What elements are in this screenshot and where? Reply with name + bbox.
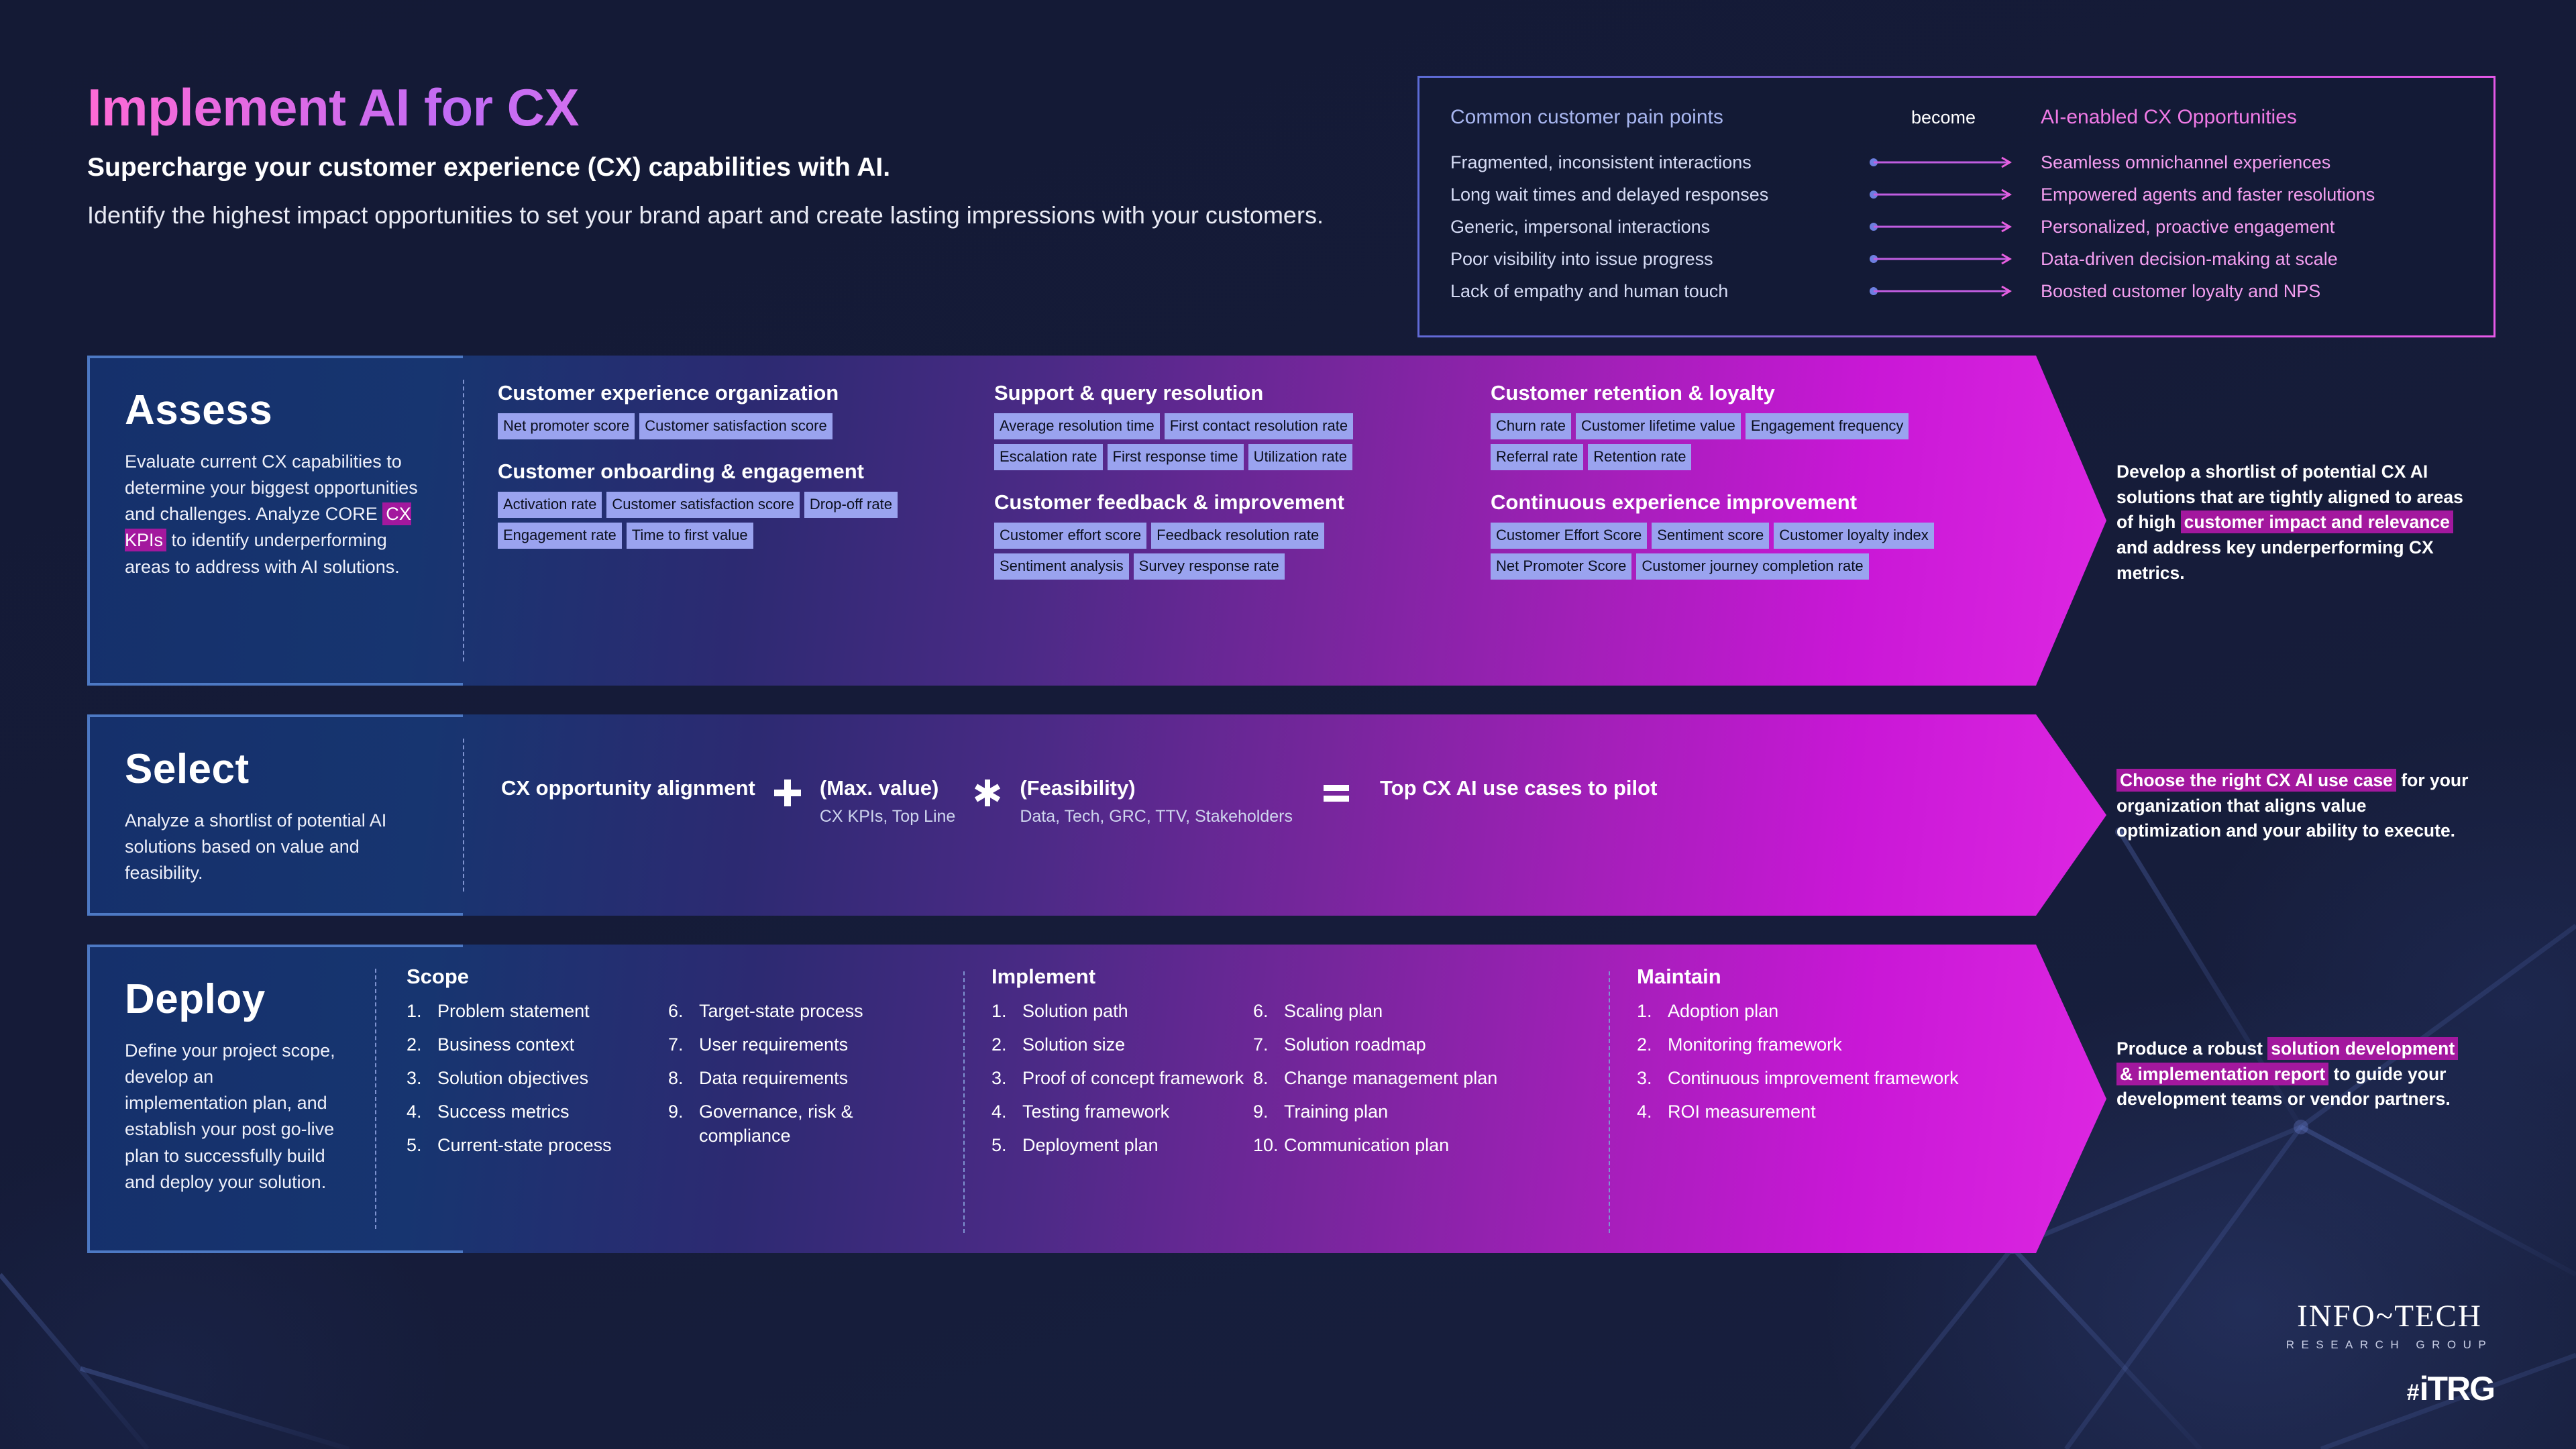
- opportunities-column-header: AI-enabled CX Opportunities: [2041, 106, 2463, 129]
- list-item-text: Proof of concept framework: [1022, 1067, 1244, 1091]
- list-item-text: Change management plan: [1284, 1067, 1497, 1091]
- list-item-number: 8.: [668, 1067, 699, 1091]
- kpi-chip[interactable]: Customer satisfaction score: [606, 492, 799, 518]
- list-item-number: 10.: [1253, 1134, 1284, 1158]
- become-arrow-icon: [1846, 219, 2041, 234]
- list-item-text: Success metrics: [437, 1100, 570, 1124]
- kpi-group: Customer feedback & improvementCustomer …: [994, 490, 1491, 580]
- kpi-chip[interactable]: Survey response rate: [1134, 553, 1285, 580]
- assess-description: Evaluate current CX capabilities to dete…: [125, 449, 425, 580]
- pain-point-row: Fragmented, inconsistent interactionsSea…: [1450, 146, 2463, 178]
- formula-term2-main: (Max. value): [820, 776, 955, 800]
- select-label-block: Select Analyze a shortlist of potential …: [87, 714, 463, 916]
- list-item-number: 3.: [991, 1067, 1022, 1091]
- deploy-list: 1.Problem statement2.Business context3.S…: [407, 1000, 668, 1167]
- deploy-column: Implement1.Solution path2.Solution size3…: [991, 965, 1582, 1253]
- kpi-chip[interactable]: Net Promoter Score: [1491, 553, 1631, 580]
- select-description: Analyze a shortlist of potential AI solu…: [125, 808, 425, 886]
- asterisk-icon: [955, 776, 1020, 808]
- deploy-columns: Scope1.Problem statement2.Business conte…: [376, 945, 2106, 1253]
- pain-points-panel: Common customer pain points become AI-en…: [1417, 76, 2495, 337]
- deploy-list: 6.Scaling plan7.Solution roadmap8.Change…: [1253, 1000, 1562, 1167]
- list-item-text: Problem statement: [437, 1000, 590, 1024]
- assess-label-block: Assess Evaluate current CX capabilities …: [87, 356, 463, 686]
- list-item-number: 2.: [1637, 1033, 1668, 1057]
- kpi-chip[interactable]: Escalation rate: [994, 444, 1103, 470]
- pain-point-text: Lack of empathy and human touch: [1450, 281, 1846, 302]
- list-item-number: 1.: [1637, 1000, 1668, 1024]
- opportunity-text: Personalized, proactive engagement: [2041, 217, 2463, 237]
- list-item: 1.Solution path: [991, 1000, 1253, 1024]
- plus-icon: [755, 776, 820, 808]
- list-item-number: 8.: [1253, 1067, 1284, 1091]
- kpi-group-title: Customer retention & loyalty: [1491, 381, 1987, 405]
- kpi-group-title: Support & query resolution: [994, 381, 1491, 405]
- pain-point-row: Generic, impersonal interactionsPersonal…: [1450, 211, 2463, 243]
- info-tech-logo: INFO~TECH RESEARCH GROUP: [2249, 1298, 2530, 1352]
- deploy-heading: Deploy: [125, 975, 337, 1023]
- list-item-number: 6.: [1253, 1000, 1284, 1024]
- list-item-text: Governance, risk & compliance: [699, 1100, 916, 1148]
- formula-term2-sub: CX KPIs, Top Line: [820, 807, 955, 826]
- formula-term4-main: Top CX AI use cases to pilot: [1380, 776, 1657, 800]
- list-item-text: Solution objectives: [437, 1067, 588, 1091]
- kpi-chip[interactable]: Engagement rate: [498, 523, 622, 549]
- kpi-chip[interactable]: Activation rate: [498, 492, 602, 518]
- list-item-text: Adoption plan: [1668, 1000, 1778, 1024]
- select-formula: CX opportunity alignment (Max. value) CX…: [464, 714, 2106, 826]
- list-item-text: Scaling plan: [1284, 1000, 1383, 1024]
- assess-callout: Develop a shortlist of potential CX AI s…: [2116, 460, 2472, 586]
- become-arrow-icon: [1846, 187, 2041, 202]
- kpi-group: Customer experience organizationNet prom…: [498, 381, 994, 439]
- assess-desc-after: to identify underperforming areas to add…: [125, 530, 400, 576]
- deploy-description: Define your project scope, develop an im…: [125, 1038, 337, 1195]
- kpi-group: Support & query resolutionAverage resolu…: [994, 381, 1491, 470]
- deploy-column: Scope1.Problem statement2.Business conte…: [407, 965, 936, 1253]
- list-item-number: 2.: [991, 1033, 1022, 1057]
- formula-term-result: Top CX AI use cases to pilot: [1380, 776, 1657, 800]
- info-tech-tagline: RESEARCH GROUP: [2249, 1338, 2530, 1352]
- list-item-number: 3.: [407, 1067, 437, 1091]
- kpi-chip[interactable]: Time to first value: [627, 523, 753, 549]
- page-header: Implement AI for CX Supercharge your cus…: [87, 80, 1429, 231]
- deploy-callout: Produce a robust solution development & …: [2116, 1036, 2472, 1112]
- kpi-chip-list: Activation rateCustomer satisfaction sco…: [498, 492, 961, 549]
- list-item: 9.Governance, risk & compliance: [668, 1100, 916, 1148]
- hash-icon: #: [2407, 1384, 2420, 1402]
- assess-callout-part2: and address key underperforming CX metri…: [2116, 537, 2434, 583]
- pain-points-column-header: Common customer pain points: [1450, 106, 1846, 129]
- select-callout-highlight: Choose the right CX AI use case: [2116, 769, 2396, 792]
- formula-term1-main: CX opportunity alignment: [501, 776, 755, 800]
- list-item-number: 4.: [407, 1100, 437, 1124]
- assess-kpi-columns: Customer experience organizationNet prom…: [464, 356, 2106, 600]
- itrg-logo: # iTRG: [2407, 1375, 2494, 1402]
- assess-callout-highlight: customer impact and relevance: [2181, 511, 2453, 533]
- deploy-list: 6.Target-state process7.User requirement…: [668, 1000, 916, 1167]
- select-band: Select Analyze a shortlist of potential …: [87, 714, 2106, 916]
- page-subtitle: Supercharge your customer experience (CX…: [87, 153, 1429, 182]
- opportunity-text: Empowered agents and faster resolutions: [2041, 184, 2463, 205]
- deploy-callout-part1: Produce a robust: [2116, 1038, 2267, 1059]
- formula-term-alignment: CX opportunity alignment: [501, 776, 755, 800]
- kpi-chip[interactable]: Feedback resolution rate: [1151, 523, 1324, 549]
- list-item: 10.Communication plan: [1253, 1134, 1562, 1158]
- kpi-group-title: Customer experience organization: [498, 381, 994, 405]
- list-item-number: 6.: [668, 1000, 699, 1024]
- list-item-text: Testing framework: [1022, 1100, 1169, 1124]
- list-item: 4.Testing framework: [991, 1100, 1253, 1124]
- deploy-list: 1.Solution path2.Solution size3.Proof of…: [991, 1000, 1253, 1167]
- kpi-chip[interactable]: Sentiment analysis: [994, 553, 1129, 580]
- list-item: 1.Problem statement: [407, 1000, 668, 1024]
- kpi-chip[interactable]: First contact resolution rate: [1165, 413, 1353, 439]
- kpi-group-title: Customer onboarding & engagement: [498, 460, 994, 484]
- kpi-group: Customer onboarding & engagementActivati…: [498, 460, 994, 549]
- itrg-wordmark: iTRG: [2420, 1375, 2494, 1402]
- list-item-number: 9.: [668, 1100, 699, 1148]
- list-item: 7.Solution roadmap: [1253, 1033, 1562, 1057]
- list-item: 4.Success metrics: [407, 1100, 668, 1124]
- list-item-number: 7.: [1253, 1033, 1284, 1057]
- list-item-number: 2.: [407, 1033, 437, 1057]
- list-item-text: Solution size: [1022, 1033, 1125, 1057]
- kpi-chip-list: Customer Effort ScoreSentiment scoreCust…: [1491, 523, 1953, 580]
- kpi-column: Customer retention & loyaltyChurn rateCu…: [1491, 381, 1987, 600]
- list-item-text: Solution path: [1022, 1000, 1128, 1024]
- kpi-chip[interactable]: Utilization rate: [1248, 444, 1352, 470]
- equals-icon: [1293, 776, 1380, 808]
- kpi-chip[interactable]: Engagement frequency: [1746, 413, 1909, 439]
- kpi-chip[interactable]: Customer loyalty index: [1774, 523, 1934, 549]
- list-item-number: 4.: [1637, 1100, 1668, 1124]
- kpi-chip[interactable]: Churn rate: [1491, 413, 1571, 439]
- deploy-column-title: Implement: [991, 965, 1582, 989]
- opportunity-text: Data-driven decision-making at scale: [2041, 249, 2463, 270]
- deploy-column-divider: [963, 971, 965, 1233]
- kpi-chip[interactable]: Customer journey completion rate: [1636, 553, 1868, 580]
- kpi-chip[interactable]: Referral rate: [1491, 444, 1583, 470]
- list-item-number: 7.: [668, 1033, 699, 1057]
- become-arrow-icon: [1846, 155, 2041, 170]
- pain-point-row: Poor visibility into issue progressData-…: [1450, 243, 2463, 275]
- list-item-text: Deployment plan: [1022, 1134, 1159, 1158]
- list-item-number: 9.: [1253, 1100, 1284, 1124]
- opportunity-text: Seamless omnichannel experiences: [2041, 152, 2463, 173]
- page-lede: Identify the highest impact opportunitie…: [87, 200, 1429, 231]
- list-item: 2.Business context: [407, 1033, 668, 1057]
- formula-term-value: (Max. value) CX KPIs, Top Line: [820, 776, 955, 826]
- kpi-chip-list: Net promoter scoreCustomer satisfaction …: [498, 413, 961, 439]
- list-item: 7.User requirements: [668, 1033, 916, 1057]
- list-item: 1.Adoption plan: [1637, 1000, 2106, 1024]
- kpi-chip[interactable]: Drop-off rate: [804, 492, 898, 518]
- pain-point-text: Long wait times and delayed responses: [1450, 184, 1846, 205]
- list-item: 8.Change management plan: [1253, 1067, 1562, 1091]
- pain-point-text: Poor visibility into issue progress: [1450, 249, 1846, 270]
- deploy-column-divider: [1609, 971, 1610, 1233]
- kpi-group-title: Continuous experience improvement: [1491, 490, 1987, 515]
- kpi-chip[interactable]: Customer Effort Score: [1491, 523, 1647, 549]
- select-callout: Choose the right CX AI use case for your…: [2116, 768, 2472, 844]
- list-item-text: Communication plan: [1284, 1134, 1449, 1158]
- list-item-text: Training plan: [1284, 1100, 1388, 1124]
- kpi-chip[interactable]: First response time: [1108, 444, 1244, 470]
- kpi-column: Support & query resolutionAverage resolu…: [994, 381, 1491, 600]
- kpi-group: Continuous experience improvementCustome…: [1491, 490, 1987, 580]
- opportunity-text: Boosted customer loyalty and NPS: [2041, 281, 2463, 302]
- become-arrow-icon: [1846, 284, 2041, 299]
- list-item: 3.Solution objectives: [407, 1067, 668, 1091]
- list-item: 4.ROI measurement: [1637, 1100, 2106, 1124]
- list-item-text: Continuous improvement framework: [1668, 1067, 1959, 1091]
- deploy-band: Deploy Define your project scope, develo…: [87, 945, 2106, 1253]
- list-item-text: Target-state process: [699, 1000, 863, 1024]
- deploy-column: Maintain1.Adoption plan2.Monitoring fram…: [1637, 965, 2106, 1253]
- list-item: 5.Current-state process: [407, 1134, 668, 1158]
- list-item: 9.Training plan: [1253, 1100, 1562, 1124]
- pain-points-rows: Fragmented, inconsistent interactionsSea…: [1419, 129, 2493, 307]
- kpi-column: Customer experience organizationNet prom…: [498, 381, 994, 600]
- select-heading: Select: [125, 745, 425, 793]
- list-item-text: User requirements: [699, 1033, 848, 1057]
- become-column-header: become: [1846, 107, 2041, 128]
- pain-point-text: Fragmented, inconsistent interactions: [1450, 152, 1846, 173]
- kpi-chip-list: Churn rateCustomer lifetime valueEngagem…: [1491, 413, 1953, 470]
- list-item-text: Data requirements: [699, 1067, 848, 1091]
- kpi-chip[interactable]: Customer effort score: [994, 523, 1146, 549]
- formula-term3-main: (Feasibility): [1020, 776, 1293, 800]
- pain-point-row: Long wait times and delayed responsesEmp…: [1450, 178, 2463, 211]
- infographic-root: Implement AI for CX Supercharge your cus…: [0, 0, 2576, 1449]
- kpi-chip[interactable]: Customer lifetime value: [1576, 413, 1741, 439]
- pain-points-header-row: Common customer pain points become AI-en…: [1419, 78, 2493, 129]
- list-item-text: ROI measurement: [1668, 1100, 1816, 1124]
- list-item-number: 5.: [407, 1134, 437, 1158]
- kpi-group: Customer retention & loyaltyChurn rateCu…: [1491, 381, 1987, 470]
- kpi-group-title: Customer feedback & improvement: [994, 490, 1491, 515]
- assess-band: Assess Evaluate current CX capabilities …: [87, 356, 2106, 686]
- list-item-number: 3.: [1637, 1067, 1668, 1091]
- list-item: 5.Deployment plan: [991, 1134, 1253, 1158]
- deploy-column-title: Scope: [407, 965, 936, 989]
- deploy-list: 1.Adoption plan2.Monitoring framework3.C…: [1637, 1000, 2106, 1134]
- pain-point-text: Generic, impersonal interactions: [1450, 217, 1846, 237]
- list-item: 8.Data requirements: [668, 1067, 916, 1091]
- kpi-chip[interactable]: Retention rate: [1588, 444, 1691, 470]
- formula-term3-sub: Data, Tech, GRC, TTV, Stakeholders: [1020, 807, 1293, 826]
- kpi-chip[interactable]: Sentiment score: [1652, 523, 1769, 549]
- assess-heading: Assess: [125, 386, 425, 434]
- list-item-number: 5.: [991, 1134, 1022, 1158]
- kpi-chip[interactable]: Net promoter score: [498, 413, 635, 439]
- list-item: 2.Solution size: [991, 1033, 1253, 1057]
- pain-point-row: Lack of empathy and human touchBoosted c…: [1450, 275, 2463, 307]
- kpi-chip-list: Average resolution timeFirst contact res…: [994, 413, 1457, 470]
- become-arrow-icon: [1846, 252, 2041, 266]
- kpi-chip-list: Customer effort scoreFeedback resolution…: [994, 523, 1457, 580]
- page-title: Implement AI for CX: [87, 80, 1429, 136]
- list-item: 6.Scaling plan: [1253, 1000, 1562, 1024]
- list-item-number: 1.: [991, 1000, 1022, 1024]
- list-item-text: Current-state process: [437, 1134, 612, 1158]
- kpi-chip[interactable]: Average resolution time: [994, 413, 1160, 439]
- list-item-number: 1.: [407, 1000, 437, 1024]
- assess-desc-before: Evaluate current CX capabilities to dete…: [125, 451, 418, 524]
- list-item: 3.Proof of concept framework: [991, 1067, 1253, 1091]
- list-item-text: Monitoring framework: [1668, 1033, 1842, 1057]
- list-item: 2.Monitoring framework: [1637, 1033, 2106, 1057]
- kpi-chip[interactable]: Customer satisfaction score: [639, 413, 832, 439]
- info-tech-wordmark: INFO~TECH: [2249, 1298, 2530, 1334]
- list-item: 6.Target-state process: [668, 1000, 916, 1024]
- list-item-text: Solution roadmap: [1284, 1033, 1426, 1057]
- list-item-text: Business context: [437, 1033, 574, 1057]
- deploy-column-title: Maintain: [1637, 965, 2106, 989]
- deploy-label-block: Deploy Define your project scope, develo…: [87, 945, 375, 1253]
- formula-term-feasibility: (Feasibility) Data, Tech, GRC, TTV, Stak…: [1020, 776, 1293, 826]
- list-item-number: 4.: [991, 1100, 1022, 1124]
- list-item: 3.Continuous improvement framework: [1637, 1067, 2106, 1091]
